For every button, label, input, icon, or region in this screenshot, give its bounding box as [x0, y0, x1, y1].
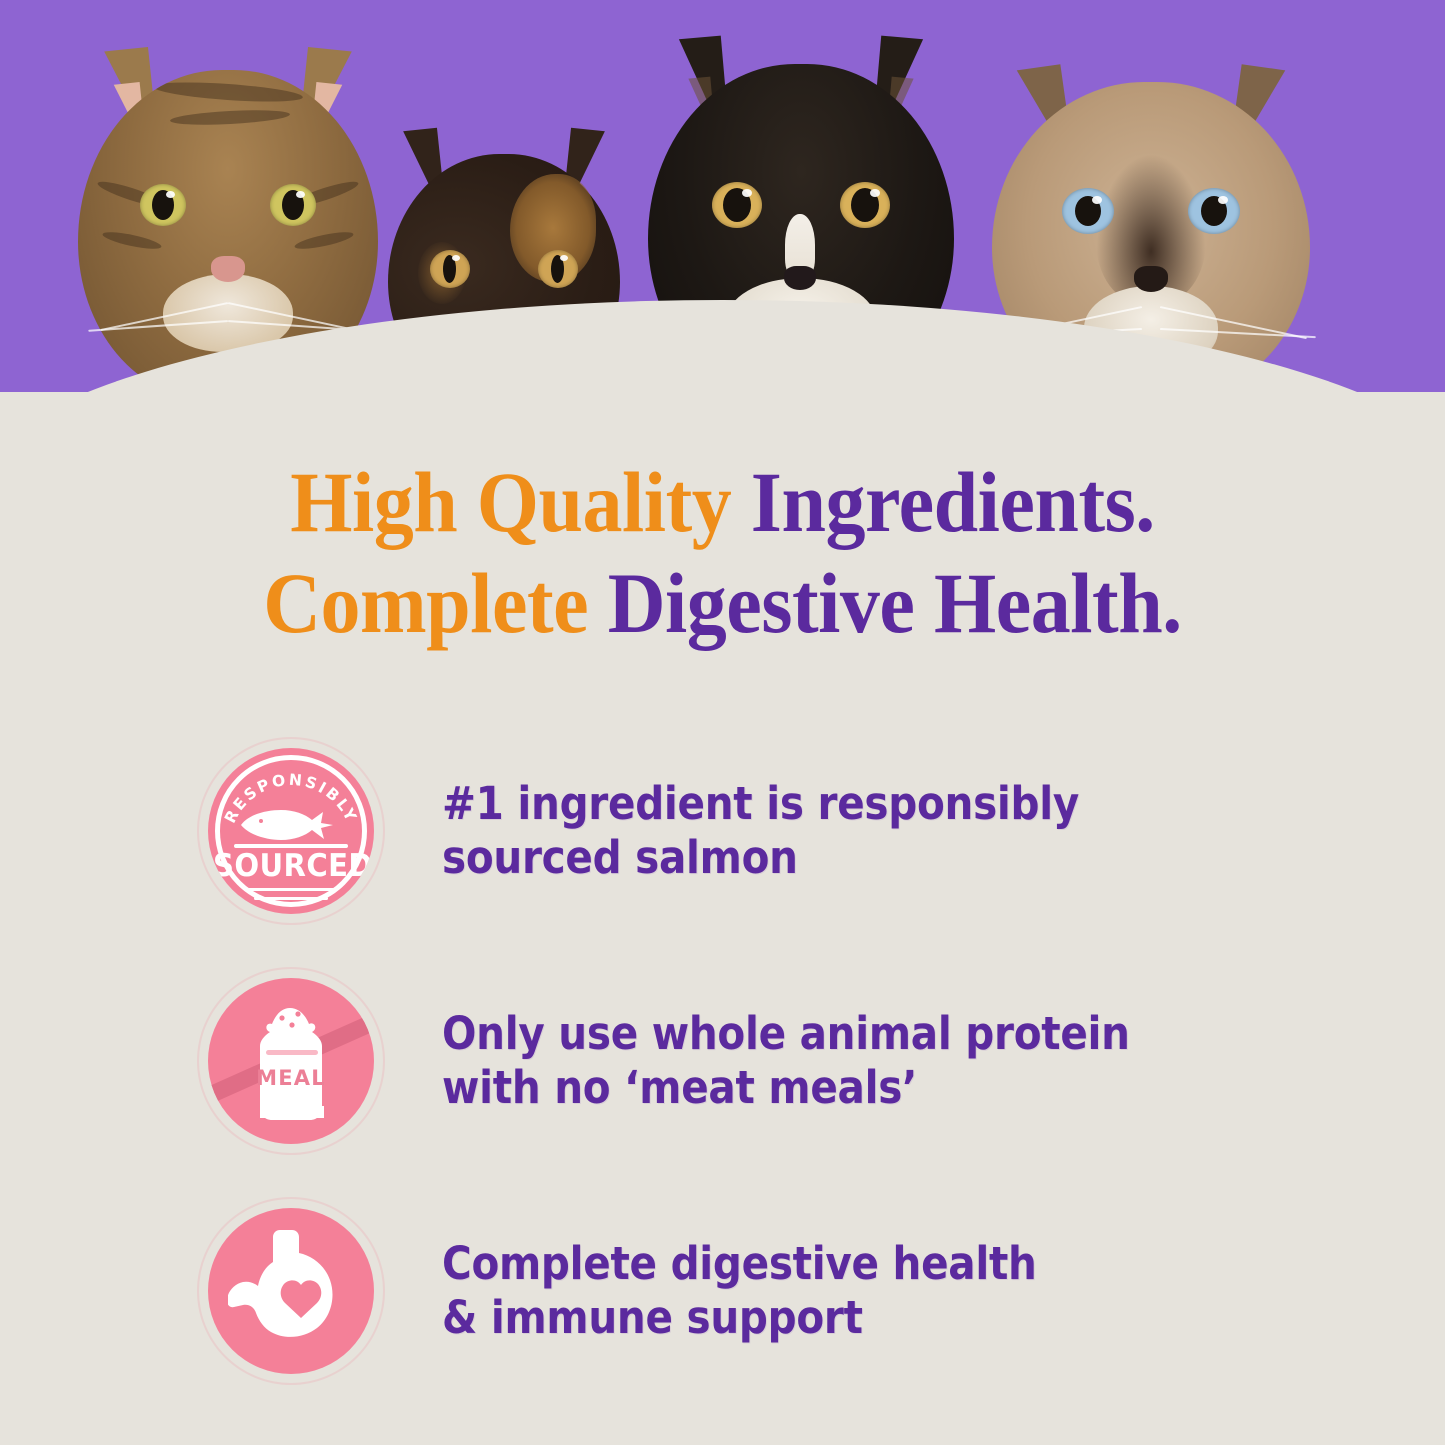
meal-bag-label: MEAL	[208, 1066, 374, 1090]
feature-item-digestive-health: Complete digestive health & immune suppo…	[0, 1176, 1445, 1406]
product-feature-panel: High Quality Ingredients. Complete Diges…	[0, 0, 1445, 1445]
cat-stripe	[294, 229, 355, 252]
cat-eye-glint	[1092, 196, 1102, 204]
stomach-heart-icon	[208, 1208, 374, 1374]
feature-item-no-meat-meals: MEAL Only use whole animal protein with …	[0, 946, 1445, 1176]
cat-eye-glint	[1218, 196, 1228, 204]
cat-nose	[784, 266, 816, 290]
feature-list: RESPONSIBLY SOURCED #1 ingredient is res…	[0, 716, 1445, 1406]
meal-bag-slashed-icon: MEAL	[208, 978, 374, 1144]
cat-nose	[211, 256, 245, 282]
stomach-icon	[228, 1224, 354, 1358]
fish-icon	[235, 806, 347, 840]
cat-eye-glint	[560, 255, 568, 261]
cat-eye-left	[712, 182, 762, 228]
seal-main-label: SOURCED	[213, 848, 369, 884]
headline-line-2-purple: Digestive Health.	[608, 555, 1182, 651]
feature-line-2: with no ‘meat meals’	[442, 1061, 1130, 1115]
headline-line-1-purple: Ingredients.	[751, 454, 1155, 550]
cat-eye-glint	[870, 189, 880, 197]
feature-line-2: & immune support	[442, 1291, 1037, 1345]
cat-eye-glint	[296, 191, 305, 198]
cat-eye-glint	[452, 255, 460, 261]
cat-eye-left	[430, 250, 470, 288]
feature-text-no-meat-meals: Only use whole animal protein with no ‘m…	[442, 1007, 1130, 1115]
cat-stripe	[102, 229, 163, 252]
headline-line-1: High Quality Ingredients.	[51, 452, 1395, 553]
feature-item-responsibly-sourced: RESPONSIBLY SOURCED #1 ingredient is res…	[0, 716, 1445, 946]
feature-text-digestive-health: Complete digestive health & immune suppo…	[442, 1237, 1037, 1345]
cat-eye-glint	[166, 191, 175, 198]
feature-line-2: sourced salmon	[442, 831, 1079, 885]
headline-line-2-orange: Complete	[263, 555, 608, 651]
feature-line-1: #1 ingredient is responsibly	[442, 777, 1079, 830]
cat-stripe	[170, 108, 291, 127]
feature-text-responsibly-sourced: #1 ingredient is responsibly sourced sal…	[442, 777, 1079, 885]
cat-eye-left	[140, 184, 186, 226]
cat-eye-right	[270, 184, 316, 226]
cat-eye-right	[1188, 188, 1240, 234]
meal-bag-icon	[242, 1002, 342, 1122]
responsibly-sourced-seal-icon: RESPONSIBLY SOURCED	[208, 748, 374, 914]
cat-stripe	[153, 79, 304, 105]
headline-line-2: Complete Digestive Health.	[51, 553, 1395, 654]
cat-eye-right	[840, 182, 890, 228]
page-title: High Quality Ingredients. Complete Diges…	[51, 452, 1395, 655]
cat-eye-glint	[742, 189, 752, 197]
cat-eye-left	[1062, 188, 1114, 234]
headline-line-1-orange: High Quality	[290, 454, 751, 550]
cat-nose	[1134, 266, 1168, 292]
feature-line-1: Only use whole animal protein	[442, 1007, 1130, 1060]
feature-line-1: Complete digestive health	[442, 1237, 1037, 1290]
seal-divider	[244, 888, 338, 891]
seal-divider	[254, 897, 328, 900]
cat-eye-right	[538, 250, 578, 288]
